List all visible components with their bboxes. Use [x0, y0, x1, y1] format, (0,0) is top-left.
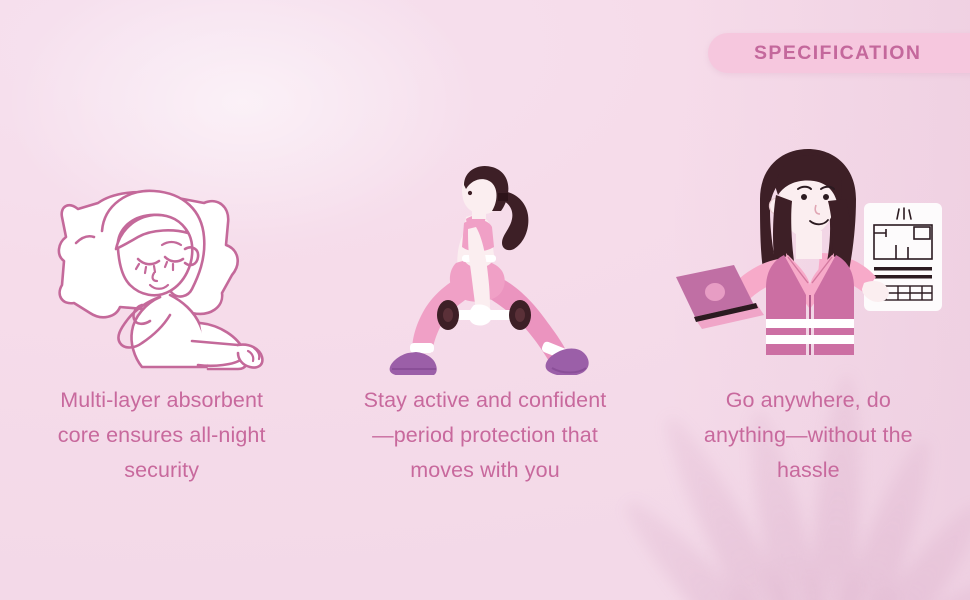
- specification-badge-label: SPECIFICATION: [708, 42, 921, 65]
- specification-badge: SPECIFICATION: [708, 33, 970, 73]
- feature-caption: Stay active and confident —period protec…: [323, 383, 646, 488]
- caption-line: —period protection that: [323, 418, 646, 453]
- caption-line: core ensures all-night: [0, 418, 323, 453]
- caption-line: moves with you: [323, 453, 646, 488]
- caption-line: Multi-layer absorbent: [0, 383, 323, 418]
- illustration-slot: [647, 140, 970, 375]
- caption-line: Stay active and confident: [323, 383, 646, 418]
- feature-columns: Multi-layer absorbent core ensures all-n…: [0, 0, 970, 600]
- feature-column-active-protection: Stay active and confident —period protec…: [323, 0, 646, 600]
- specification-banner: SPECIFICATION: [0, 0, 970, 600]
- caption-line: hassle: [647, 453, 970, 488]
- feature-column-on-the-go-protection: Go anywhere, do anything—without the has…: [647, 0, 970, 600]
- illustration-slot: [0, 140, 323, 375]
- feature-caption: Go anywhere, do anything—without the has…: [647, 383, 970, 488]
- illustration-slot: [323, 140, 646, 375]
- feature-column-overnight-protection: Multi-layer absorbent core ensures all-n…: [0, 0, 323, 600]
- woman-with-laptop-and-document-icon: [668, 145, 948, 375]
- sleeping-woman-on-pillow-icon: [42, 145, 282, 375]
- caption-line: anything—without the: [647, 418, 970, 453]
- caption-line: security: [0, 453, 323, 488]
- caption-line: Go anywhere, do: [647, 383, 970, 418]
- woman-lunging-with-dumbbell-icon: [380, 155, 590, 375]
- feature-caption: Multi-layer absorbent core ensures all-n…: [0, 383, 323, 488]
